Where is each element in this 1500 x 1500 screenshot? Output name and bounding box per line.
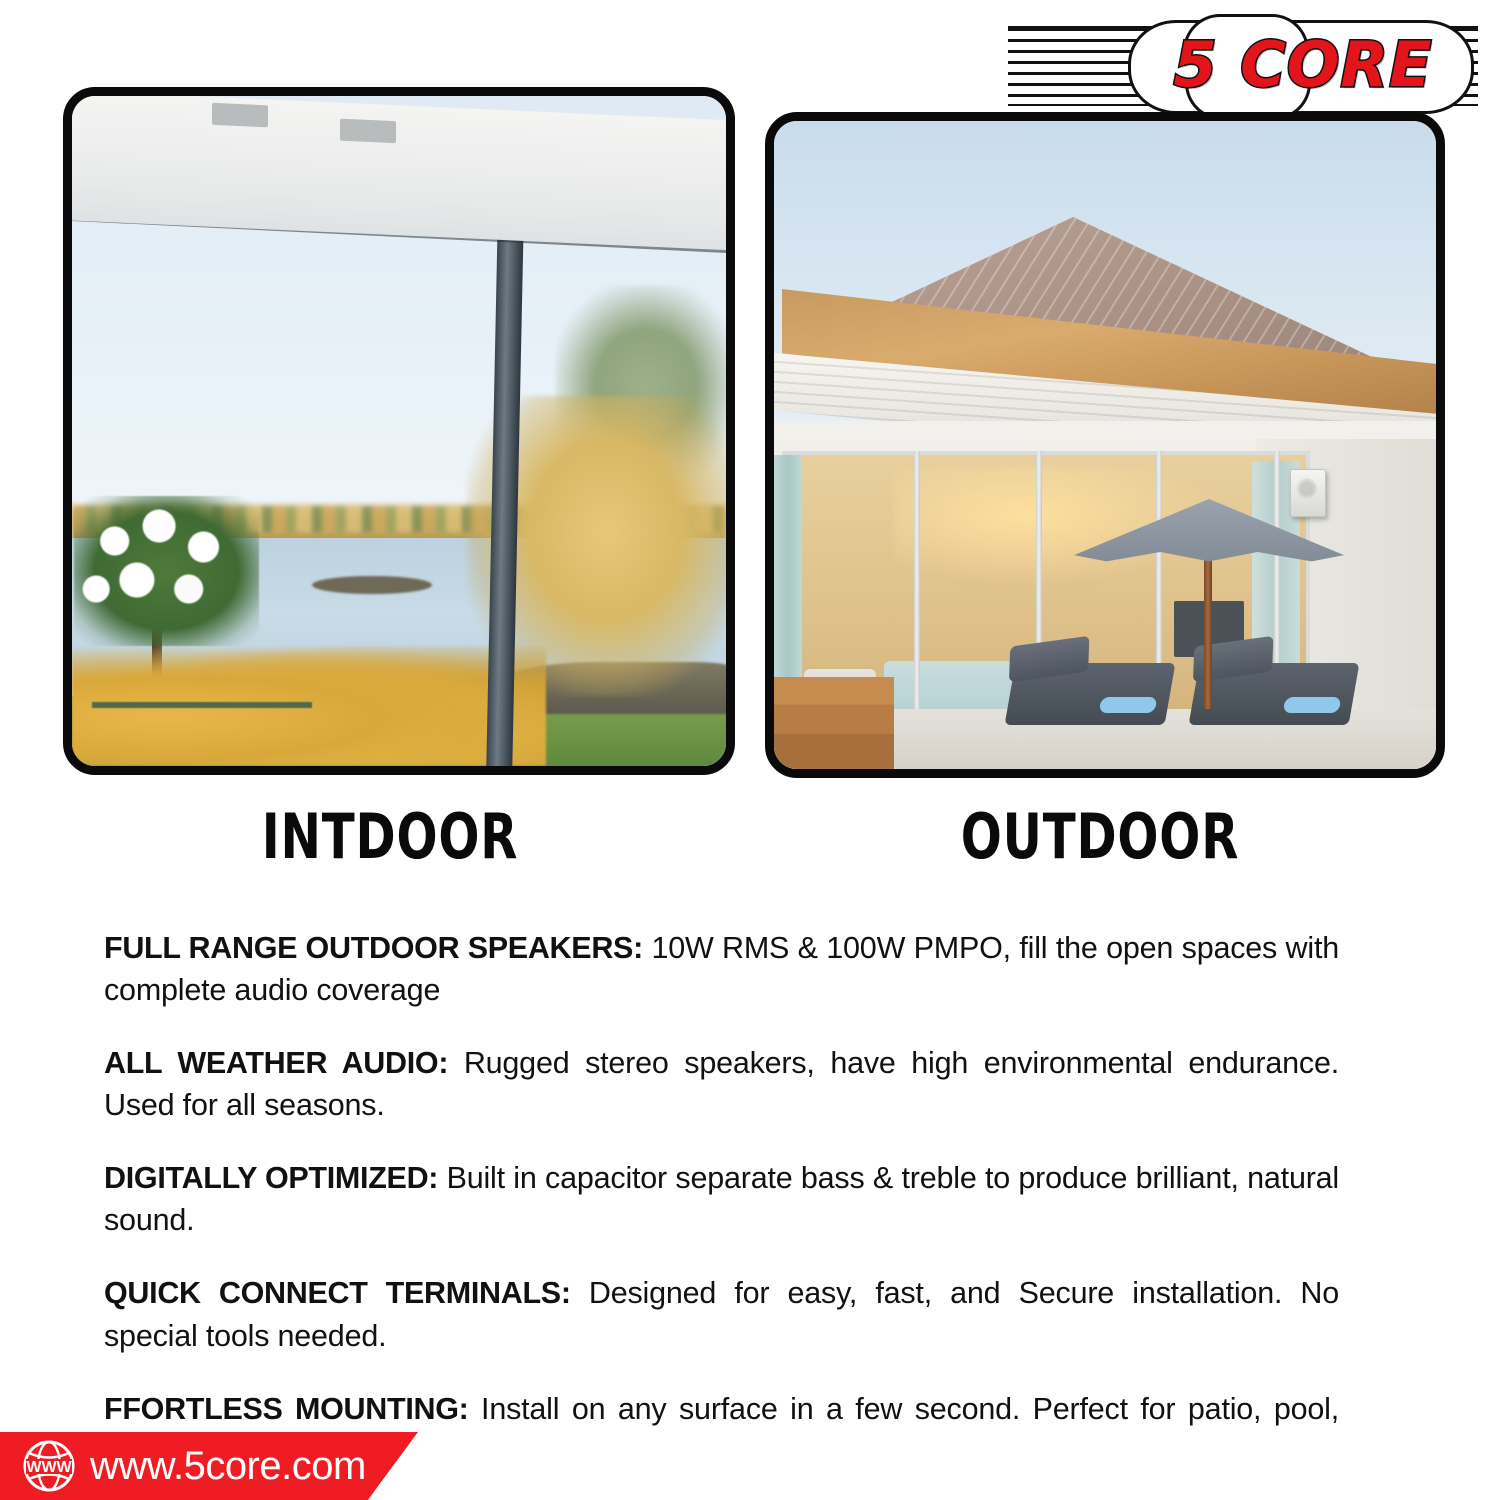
label-indoor: INTDOOR [164, 800, 616, 873]
photo-indoor [63, 87, 735, 775]
glass-door-mullion [914, 451, 920, 751]
feature-item: FULL RANGE OUTDOOR SPEAKERS: 10W RMS & 1… [104, 927, 1339, 1012]
outdoor-scene [774, 121, 1436, 769]
feature-title: QUICK CONNECT TERMINALS: [104, 1276, 571, 1310]
feature-list: FULL RANGE OUTDOOR SPEAKERS: 10W RMS & 1… [104, 896, 1339, 1472]
svg-text:WWW: WWW [26, 1459, 72, 1476]
ceiling-bracket [340, 119, 396, 144]
brand-logo: 5 CORE [1008, 18, 1478, 110]
feature-item: ALL WEATHER AUDIO: Rugged stereo speaker… [104, 1042, 1339, 1127]
website-url[interactable]: www.5core.com [90, 1444, 366, 1489]
tree-blossoms [74, 496, 259, 646]
patio-umbrella [1074, 499, 1344, 709]
umbrella-pole [1204, 551, 1212, 709]
website-footer-bar[interactable]: WWW www.5core.com [0, 1432, 418, 1500]
feature-title: DIGITALLY OPTIMIZED: [104, 1161, 438, 1195]
feature-title: ALL WEATHER AUDIO: [104, 1046, 448, 1080]
indoor-balcony-railing [92, 702, 312, 708]
logo-text: 5 CORE [1138, 22, 1468, 106]
photo-outdoor [765, 112, 1445, 778]
feature-item: DIGITALLY OPTIMIZED: Built in capacitor … [104, 1157, 1339, 1242]
feature-item: QUICK CONNECT TERMINALS: Designed for ea… [104, 1272, 1339, 1357]
feature-title: FULL RANGE OUTDOOR SPEAKERS: [104, 931, 643, 965]
ceiling-bracket [212, 103, 268, 128]
www-globe-icon: WWW [22, 1439, 76, 1493]
feature-title: FFORTLESS MOUNTING: [104, 1392, 469, 1426]
label-outdoor: OUTDOOR [866, 800, 1334, 873]
infographic-page: 5 CORE [0, 0, 1500, 1500]
indoor-lake-island [312, 576, 432, 594]
outdoor-wooden-steps [774, 677, 894, 769]
indoor-scene [72, 96, 726, 766]
